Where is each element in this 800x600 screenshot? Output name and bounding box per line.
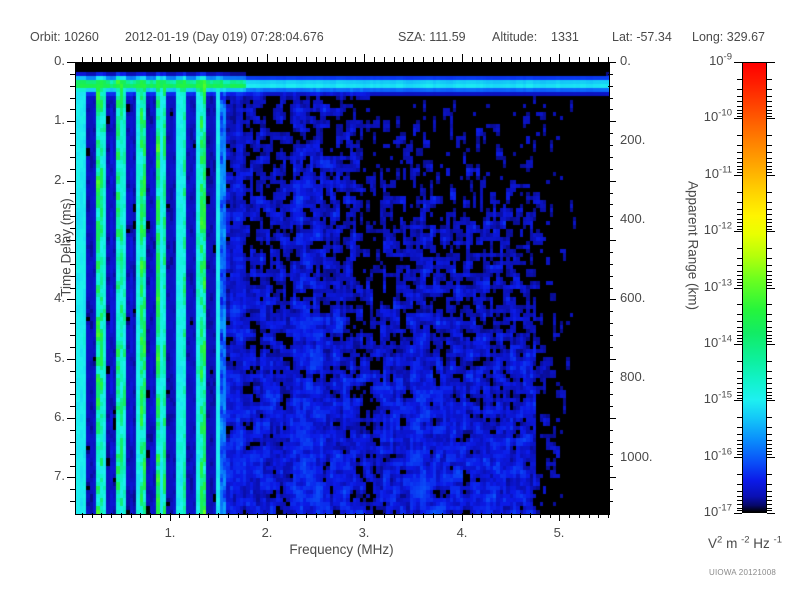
colorbar-tick bbox=[737, 491, 742, 492]
colorbar bbox=[742, 62, 767, 513]
axis-tick bbox=[189, 513, 190, 518]
colorbar-tick bbox=[767, 457, 775, 458]
colorbar-tick bbox=[737, 101, 742, 102]
colorbar-tick bbox=[737, 219, 742, 220]
axis-tick bbox=[608, 418, 616, 419]
colorbar-tick bbox=[737, 434, 742, 435]
colorbar-tick bbox=[737, 508, 742, 509]
axis-tick bbox=[140, 57, 141, 62]
colorbar-tick bbox=[767, 192, 772, 193]
axis-tick bbox=[374, 513, 375, 518]
axis-tick bbox=[472, 57, 473, 62]
x-tick-label-2: 3. bbox=[339, 525, 389, 540]
axis-tick bbox=[394, 513, 395, 518]
colorbar-tick bbox=[737, 162, 742, 163]
axis-tick bbox=[569, 513, 570, 518]
colorbar-tick bbox=[734, 231, 742, 232]
axis-tick bbox=[121, 513, 122, 518]
axis-tick bbox=[82, 57, 83, 62]
axis-tick bbox=[70, 347, 75, 348]
colorbar-tick bbox=[767, 341, 772, 342]
colorbar-tick bbox=[767, 454, 772, 455]
axis-tick bbox=[179, 513, 180, 518]
axis-tick bbox=[608, 145, 613, 146]
axis-tick bbox=[540, 57, 541, 62]
colorbar-tick bbox=[737, 166, 742, 167]
colorbar-tick bbox=[737, 152, 742, 153]
colorbar-tick bbox=[737, 135, 742, 136]
axis-tick bbox=[442, 57, 443, 62]
axis-tick bbox=[520, 513, 521, 518]
axis-tick bbox=[247, 57, 248, 62]
axis-tick bbox=[257, 513, 258, 518]
axis-tick bbox=[403, 57, 404, 62]
axis-tick bbox=[170, 54, 171, 62]
colorbar-tick bbox=[767, 101, 772, 102]
colorbar-tick bbox=[737, 335, 742, 336]
header-datetime: 2012-01-19 (Day 019) 07:28:04.676 bbox=[125, 30, 324, 44]
unit-hz: Hz bbox=[750, 536, 774, 551]
colorbar-tick bbox=[767, 271, 772, 272]
axis-tick bbox=[374, 57, 375, 62]
axis-tick bbox=[608, 406, 613, 407]
colorbar-tick bbox=[734, 344, 742, 345]
colorbar-tick bbox=[767, 175, 775, 176]
colorbar-gradient bbox=[742, 62, 767, 513]
colorbar-tick bbox=[767, 448, 772, 449]
ionogram-heatmap-canvas bbox=[76, 63, 609, 514]
axis-tick bbox=[384, 57, 385, 62]
axis-tick bbox=[345, 57, 346, 62]
colorbar-tick bbox=[737, 282, 742, 283]
colorbar-tick bbox=[737, 383, 742, 384]
axis-tick bbox=[267, 513, 268, 521]
axis-tick bbox=[160, 57, 161, 62]
header-latitude: Lat: -57.34 bbox=[612, 30, 672, 44]
colorbar-tick bbox=[737, 304, 742, 305]
colorbar-tick bbox=[767, 226, 772, 227]
axis-tick bbox=[70, 466, 75, 467]
y-left-tick-label-3: 3. bbox=[15, 231, 65, 246]
axis-tick bbox=[608, 74, 613, 75]
axis-tick bbox=[511, 57, 512, 62]
axis-tick bbox=[608, 193, 613, 194]
colorbar-tick bbox=[734, 513, 742, 514]
colorbar-tick bbox=[737, 392, 742, 393]
colorbar-tick bbox=[737, 510, 742, 511]
colorbar-tick bbox=[767, 434, 772, 435]
axis-tick bbox=[608, 371, 613, 372]
axis-tick bbox=[238, 57, 239, 62]
axis-tick bbox=[67, 121, 75, 122]
axis-tick bbox=[70, 74, 75, 75]
axis-tick bbox=[608, 86, 613, 87]
colorbar-tick-label-1: 10-10 bbox=[664, 109, 732, 124]
unit-m: m bbox=[722, 536, 741, 551]
colorbar-tick bbox=[737, 116, 742, 117]
axis-tick bbox=[501, 57, 502, 62]
unit-m-exp: -2 bbox=[741, 535, 749, 546]
colorbar-tick-label-8: 10-17 bbox=[664, 504, 732, 519]
colorbar-tick bbox=[737, 226, 742, 227]
colorbar-tick bbox=[737, 321, 742, 322]
axis-tick bbox=[67, 62, 75, 63]
axis-tick bbox=[608, 240, 616, 241]
colorbar-tick bbox=[737, 145, 742, 146]
colorbar-tick bbox=[767, 219, 772, 220]
colorbar-tick-label-0: 10-9 bbox=[664, 53, 732, 68]
colorbar-tick bbox=[767, 214, 772, 215]
colorbar-tick-label-2: 10-11 bbox=[664, 166, 732, 181]
axis-tick bbox=[511, 513, 512, 518]
axis-tick bbox=[364, 513, 365, 521]
axis-tick bbox=[608, 442, 613, 443]
axis-tick bbox=[472, 513, 473, 518]
axis-tick bbox=[199, 513, 200, 518]
axis-tick bbox=[608, 109, 613, 110]
colorbar-tick bbox=[767, 484, 772, 485]
axis-tick bbox=[598, 57, 599, 62]
axis-tick bbox=[394, 57, 395, 62]
y-axis-left-title: Time Delay (ms) bbox=[59, 168, 74, 328]
axis-tick bbox=[170, 513, 171, 521]
colorbar-tick bbox=[767, 202, 772, 203]
axis-tick bbox=[140, 513, 141, 518]
axis-tick bbox=[608, 169, 613, 170]
axis-tick bbox=[452, 513, 453, 518]
colorbar-tick bbox=[767, 229, 772, 230]
colorbar-tick bbox=[737, 169, 742, 170]
colorbar-tick bbox=[737, 158, 742, 159]
axis-tick bbox=[608, 264, 613, 265]
colorbar-tick bbox=[767, 383, 772, 384]
colorbar-tick bbox=[737, 378, 742, 379]
colorbar-tick bbox=[767, 106, 772, 107]
colorbar-tick bbox=[737, 327, 742, 328]
colorbar-tick bbox=[767, 400, 775, 401]
y-left-tick-label-6: 6. bbox=[15, 409, 65, 424]
axis-tick bbox=[491, 513, 492, 518]
axis-tick bbox=[208, 513, 209, 518]
axis-tick bbox=[70, 406, 75, 407]
axis-tick bbox=[608, 489, 613, 490]
y-right-tick-label-4: 800. bbox=[620, 369, 680, 384]
axis-tick bbox=[92, 513, 93, 518]
colorbar-tick bbox=[734, 457, 742, 458]
colorbar-tick bbox=[767, 331, 772, 332]
colorbar-tick bbox=[737, 79, 742, 80]
axis-tick bbox=[403, 513, 404, 518]
axis-tick bbox=[208, 57, 209, 62]
axis-tick bbox=[316, 57, 317, 62]
header-orbit: Orbit: 10260 bbox=[30, 30, 99, 44]
colorbar-tick bbox=[737, 275, 742, 276]
colorbar-tick bbox=[767, 510, 772, 511]
axis-tick bbox=[160, 513, 161, 518]
axis-tick bbox=[228, 513, 229, 518]
colorbar-tick bbox=[767, 135, 772, 136]
x-tick-label-4: 5. bbox=[534, 525, 584, 540]
colorbar-tick-label-7: 10-16 bbox=[664, 448, 732, 463]
axis-tick bbox=[325, 513, 326, 518]
colorbar-tick bbox=[767, 491, 772, 492]
colorbar-tick-label-4: 10-13 bbox=[664, 279, 732, 294]
axis-tick bbox=[335, 57, 336, 62]
colorbar-tick bbox=[767, 113, 772, 114]
y-left-tick-label-0: 0. bbox=[15, 53, 65, 68]
axis-tick bbox=[462, 54, 463, 62]
colorbar-tick bbox=[767, 285, 772, 286]
axis-tick bbox=[608, 430, 613, 431]
colorbar-tick bbox=[767, 417, 772, 418]
colorbar-tick bbox=[737, 371, 742, 372]
colorbar-tick bbox=[737, 172, 742, 173]
axis-tick bbox=[608, 477, 616, 478]
colorbar-tick bbox=[737, 96, 742, 97]
axis-tick bbox=[267, 54, 268, 62]
axis-tick bbox=[579, 57, 580, 62]
axis-tick bbox=[277, 57, 278, 62]
axis-tick bbox=[608, 323, 613, 324]
colorbar-tick bbox=[767, 152, 772, 153]
axis-tick bbox=[608, 98, 613, 99]
axis-tick bbox=[306, 57, 307, 62]
axis-tick bbox=[306, 513, 307, 518]
axis-tick bbox=[131, 57, 132, 62]
header-info-bar: Orbit: 10260 2012-01-19 (Day 019) 07:28:… bbox=[0, 30, 800, 50]
axis-tick bbox=[608, 181, 616, 182]
axis-tick bbox=[423, 57, 424, 62]
colorbar-tick bbox=[767, 209, 772, 210]
axis-tick bbox=[608, 382, 613, 383]
colorbar-tick bbox=[737, 285, 742, 286]
axis-tick bbox=[384, 513, 385, 518]
axis-tick bbox=[413, 57, 414, 62]
axis-tick bbox=[364, 54, 365, 62]
axis-tick bbox=[608, 299, 616, 300]
axis-tick bbox=[257, 57, 258, 62]
colorbar-tick bbox=[737, 388, 742, 389]
header-longitude: Long: 329.67 bbox=[692, 30, 765, 44]
colorbar-tick bbox=[767, 392, 772, 393]
axis-tick bbox=[67, 359, 75, 360]
axis-tick bbox=[559, 513, 560, 521]
axis-tick bbox=[355, 513, 356, 518]
y-left-tick-label-5: 5. bbox=[15, 350, 65, 365]
axis-tick bbox=[150, 513, 151, 518]
colorbar-tick bbox=[737, 417, 742, 418]
axis-tick bbox=[325, 57, 326, 62]
colorbar-tick bbox=[737, 106, 742, 107]
colorbar-tick bbox=[767, 162, 772, 163]
colorbar-tick bbox=[767, 508, 772, 509]
colorbar-tick bbox=[737, 454, 742, 455]
colorbar-tick bbox=[767, 231, 775, 232]
colorbar-tick bbox=[737, 314, 742, 315]
axis-tick bbox=[101, 57, 102, 62]
axis-tick bbox=[501, 513, 502, 518]
axis-tick bbox=[608, 394, 613, 395]
colorbar-tick bbox=[734, 288, 742, 289]
colorbar-tick bbox=[767, 398, 772, 399]
colorbar-tick bbox=[767, 440, 772, 441]
colorbar-tick bbox=[767, 371, 772, 372]
axis-tick bbox=[608, 466, 613, 467]
colorbar-tick bbox=[767, 158, 772, 159]
axis-tick bbox=[70, 489, 75, 490]
axis-tick bbox=[589, 513, 590, 518]
axis-tick bbox=[423, 513, 424, 518]
axis-tick bbox=[550, 513, 551, 518]
colorbar-tick bbox=[737, 395, 742, 396]
colorbar-tick bbox=[767, 248, 772, 249]
colorbar-tick bbox=[767, 378, 772, 379]
axis-tick bbox=[540, 513, 541, 518]
axis-tick bbox=[608, 157, 613, 158]
colorbar-tick bbox=[737, 265, 742, 266]
axis-tick bbox=[608, 335, 613, 336]
axis-tick bbox=[296, 57, 297, 62]
axis-tick bbox=[67, 477, 75, 478]
axis-tick bbox=[608, 359, 616, 360]
axis-tick bbox=[70, 98, 75, 99]
axis-tick bbox=[550, 57, 551, 62]
axis-tick bbox=[70, 430, 75, 431]
colorbar-unit-label: V2 m -2 Hz -1 bbox=[690, 536, 800, 551]
colorbar-tick bbox=[737, 192, 742, 193]
unit-hz-exp: -1 bbox=[774, 535, 782, 546]
axis-tick bbox=[608, 311, 613, 312]
colorbar-tick bbox=[737, 500, 742, 501]
colorbar-tick bbox=[737, 89, 742, 90]
axis-tick bbox=[589, 57, 590, 62]
axis-tick bbox=[189, 57, 190, 62]
colorbar-tick bbox=[767, 451, 772, 452]
colorbar-tick bbox=[767, 222, 772, 223]
axis-tick bbox=[355, 57, 356, 62]
axis-tick bbox=[413, 513, 414, 518]
axis-tick bbox=[179, 57, 180, 62]
y-left-tick-label-2: 2. bbox=[15, 172, 65, 187]
colorbar-tick bbox=[737, 113, 742, 114]
axis-tick bbox=[520, 57, 521, 62]
colorbar-tick bbox=[737, 427, 742, 428]
axis-tick bbox=[111, 513, 112, 518]
axis-tick bbox=[70, 145, 75, 146]
colorbar-tick-label-6: 10-15 bbox=[664, 391, 732, 406]
colorbar-tick bbox=[737, 341, 742, 342]
colorbar-tick bbox=[767, 500, 772, 501]
axis-tick bbox=[82, 513, 83, 518]
axis-tick bbox=[462, 513, 463, 521]
axis-tick bbox=[608, 454, 613, 455]
colorbar-tick bbox=[767, 344, 775, 345]
axis-tick bbox=[70, 394, 75, 395]
axis-tick bbox=[608, 228, 613, 229]
colorbar-tick bbox=[737, 361, 742, 362]
axis-tick bbox=[277, 513, 278, 518]
axis-tick bbox=[150, 57, 151, 62]
axis-tick bbox=[608, 57, 609, 62]
axis-tick bbox=[433, 513, 434, 518]
header-sza: SZA: 111.59 bbox=[398, 30, 466, 44]
axis-tick bbox=[218, 57, 219, 62]
axis-tick bbox=[608, 121, 616, 122]
axis-tick bbox=[286, 57, 287, 62]
axis-tick bbox=[70, 454, 75, 455]
colorbar-tick bbox=[737, 398, 742, 399]
axis-tick bbox=[70, 86, 75, 87]
colorbar-tick bbox=[767, 474, 772, 475]
axis-tick bbox=[559, 54, 560, 62]
colorbar-tick bbox=[767, 314, 772, 315]
y-left-tick-label-4: 4. bbox=[15, 290, 65, 305]
x-tick-label-3: 4. bbox=[437, 525, 487, 540]
colorbar-tick bbox=[767, 145, 772, 146]
colorbar-tick bbox=[737, 258, 742, 259]
axis-tick bbox=[101, 513, 102, 518]
axis-tick bbox=[70, 382, 75, 383]
colorbar-tick bbox=[767, 89, 772, 90]
axis-tick bbox=[608, 216, 613, 217]
y-right-tick-label-1: 200. bbox=[620, 132, 680, 147]
credit-text: UIOWA 20121008 bbox=[690, 568, 795, 577]
axis-tick bbox=[608, 276, 613, 277]
unit-v: V bbox=[708, 536, 717, 551]
colorbar-tick bbox=[767, 427, 772, 428]
axis-tick bbox=[608, 133, 613, 134]
axis-tick bbox=[111, 57, 112, 62]
axis-tick bbox=[442, 513, 443, 518]
axis-tick bbox=[296, 513, 297, 518]
axis-tick bbox=[530, 57, 531, 62]
y-left-tick-label-1: 1. bbox=[15, 112, 65, 127]
colorbar-tick bbox=[767, 166, 772, 167]
colorbar-tick bbox=[734, 400, 742, 401]
axis-tick bbox=[70, 157, 75, 158]
spectrogram-plot-area bbox=[75, 62, 610, 515]
axis-tick bbox=[131, 513, 132, 518]
colorbar-tick bbox=[767, 116, 772, 117]
colorbar-tick bbox=[767, 279, 772, 280]
colorbar-tick bbox=[767, 513, 775, 514]
colorbar-tick bbox=[767, 118, 775, 119]
colorbar-tick bbox=[737, 444, 742, 445]
colorbar-tick bbox=[737, 209, 742, 210]
axis-tick bbox=[228, 57, 229, 62]
axis-tick bbox=[335, 513, 336, 518]
colorbar-tick bbox=[767, 282, 772, 283]
axis-tick bbox=[433, 57, 434, 62]
colorbar-tick bbox=[767, 79, 772, 80]
header-altitude: Altitude: 1331 bbox=[492, 30, 579, 44]
colorbar-tick bbox=[767, 504, 772, 505]
axis-tick bbox=[238, 513, 239, 518]
axis-tick bbox=[608, 62, 616, 63]
colorbar-tick bbox=[767, 288, 775, 289]
colorbar-tick bbox=[767, 169, 772, 170]
colorbar-tick bbox=[767, 304, 772, 305]
axis-tick bbox=[70, 501, 75, 502]
colorbar-tick bbox=[737, 271, 742, 272]
colorbar-tick bbox=[737, 451, 742, 452]
axis-tick bbox=[608, 252, 613, 253]
axis-tick bbox=[247, 513, 248, 518]
axis-tick bbox=[481, 57, 482, 62]
y-left-tick-label-7: 7. bbox=[15, 468, 65, 483]
colorbar-tick-label-5: 10-14 bbox=[664, 335, 732, 350]
axis-tick bbox=[286, 513, 287, 518]
